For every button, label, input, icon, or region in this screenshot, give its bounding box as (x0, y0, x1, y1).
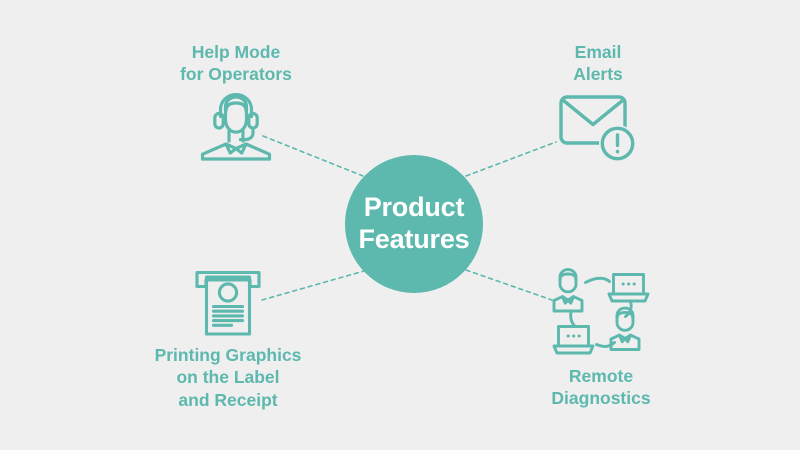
printer-receipt-icon (192, 268, 264, 338)
node-printing-graphics-label-line-2: on the Label (176, 366, 279, 388)
node-remote-diagnostics[interactable]: Remote Diagnostics (528, 268, 674, 410)
envelope-alert-icon (557, 92, 639, 164)
operator-headset-icon (199, 92, 273, 162)
node-printing-graphics-label-line-1: Printing Graphics (155, 344, 302, 366)
node-help-mode[interactable]: Help Mode for Operators (148, 41, 324, 162)
node-email-alerts[interactable]: Email Alerts (528, 41, 668, 164)
remote-diagnostics-network-icon (551, 268, 651, 360)
node-remote-diagnostics-label-line-2: Diagnostics (551, 387, 650, 409)
product-features-hub[interactable]: Product Features (345, 155, 483, 293)
node-printing-graphics[interactable]: Printing Graphics on the Label and Recei… (132, 268, 324, 411)
node-email-alerts-label-line-2: Alerts (573, 63, 623, 85)
hub-title-line-2: Features (359, 224, 470, 256)
node-remote-diagnostics-label-line-1: Remote (569, 365, 633, 387)
arc-person-to-laptop2 (571, 312, 575, 326)
node-help-mode-label-line-2: for Operators (180, 63, 292, 85)
arc-person-to-laptop (586, 278, 610, 282)
hub-title-line-1: Product (364, 192, 465, 224)
node-printing-graphics-label-line-3: and Receipt (178, 389, 277, 411)
diagram-canvas: Product Features Help Mode for Operators (0, 0, 800, 450)
node-email-alerts-label-line-1: Email (575, 41, 622, 63)
node-help-mode-label-line-1: Help Mode (192, 41, 280, 63)
